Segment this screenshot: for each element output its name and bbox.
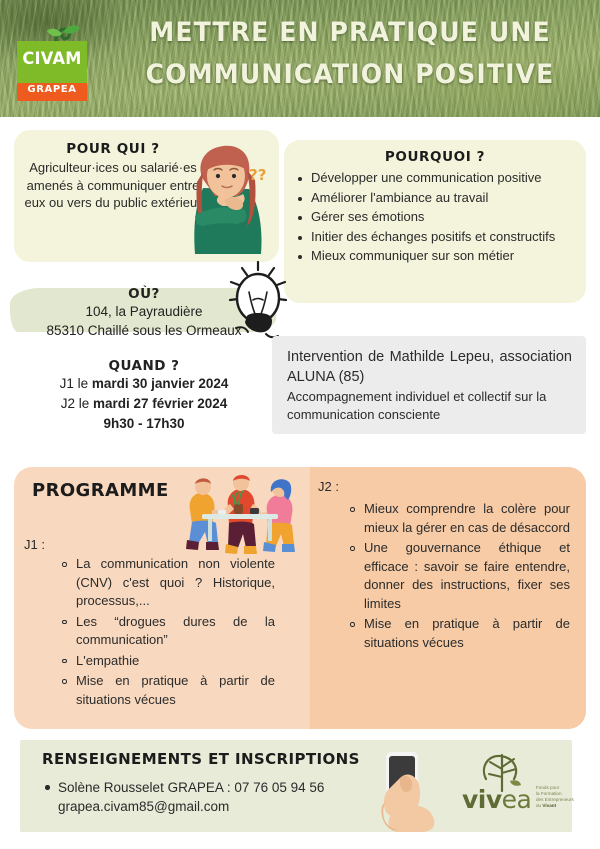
programme-j1-list: La communication non violente (CNV) c'es… [60, 555, 275, 711]
list-item: Solène Rousselet GRAPEA : 07 76 05 94 56… [42, 778, 372, 816]
page-title-line1: METTRE EN PRATIQUE UNE [127, 12, 573, 54]
list-item: Initier des échanges positifs et constru… [296, 228, 584, 247]
list-item: L'empathie [60, 652, 275, 671]
programme-j2-list: Mieux comprendre la colère pour mieux la… [348, 500, 570, 654]
logo-grapea-text: GRAPEA [17, 84, 87, 95]
intervention-card: Intervention de Mathilde Lepeu, associat… [272, 336, 586, 434]
vivea-logo: vivea Fonds pour la Formation des Entrep… [462, 757, 580, 819]
logo-civam-text: CIVAM [19, 49, 86, 69]
quand-day2-prefix: J2 le [61, 396, 93, 411]
pourquoi-title: POURQUOI ? [284, 149, 586, 165]
quand-day1-date: mardi 30 janvier 2024 [92, 376, 229, 391]
lightbulb-icon [222, 258, 298, 344]
list-item: Les “drogues dures de la communication” [60, 613, 275, 650]
list-item: Améliorer l'ambiance au travail [296, 189, 584, 208]
programme-j1-label: J1 : [24, 537, 45, 552]
list-item: La communication non violente (CNV) c'es… [60, 555, 275, 611]
pourquoi-list: Développer une communication positive Am… [296, 169, 584, 267]
footer-title: RENSEIGNEMENTS ET INSCRIPTIONS [42, 750, 360, 768]
vivea-tagline-l4-bold: Vivant [542, 803, 556, 808]
intervention-main-text: Intervention de Mathilde Lepeu, associat… [287, 347, 572, 387]
list-item: Mieux communiquer sur son métier [296, 247, 584, 266]
pour-qui-title: POUR QUI ? [28, 141, 198, 157]
quand-day1: J1 le mardi 30 janvier 2024 [8, 374, 280, 394]
quand-day2: J2 le mardi 27 février 2024 [8, 394, 280, 414]
vivea-wordmark: vivea [462, 787, 531, 812]
three-people-table-illustration [172, 470, 300, 566]
vivea-tagline-l4: du Vivant [536, 803, 582, 809]
contact-name-phone: Solène Rousselet GRAPEA : 07 76 05 94 56 [58, 780, 324, 795]
pour-qui-body: Agriculteur·ices ou salarié·es amenés à … [22, 159, 204, 212]
question-marks: ?? [249, 166, 266, 184]
vivea-word-bold: viv [462, 785, 502, 814]
list-item: Mise en pratique à partir de situations … [348, 615, 570, 652]
page-title-line2: COMMUNICATION POSITIVE [127, 54, 573, 96]
list-item: Développer une communication positive [296, 169, 584, 188]
hand-holding-phone-illustration [370, 748, 462, 832]
footer-contact-list: Solène Rousselet GRAPEA : 07 76 05 94 56… [42, 778, 372, 816]
quand-day1-prefix: J1 le [60, 376, 92, 391]
poster-root: METTRE EN PRATIQUE UNE COMMUNICATION POS… [0, 0, 600, 849]
quand-hours: 9h30 - 17h30 [8, 414, 280, 434]
vivea-word-light: ea [502, 785, 532, 814]
list-item: Une gouvernance éthique et efficace : sa… [348, 539, 570, 613]
quand-label: QUAND ? [8, 358, 280, 374]
pourquoi-card: POURQUOI ? Développer une communication … [284, 140, 586, 303]
quand-block: QUAND ? J1 le mardi 30 janvier 2024 J2 l… [8, 358, 280, 434]
page-title: METTRE EN PRATIQUE UNE COMMUNICATION POS… [127, 12, 573, 96]
intervention-sub-text: Accompagnement individuel et collectif s… [287, 388, 577, 423]
list-item: Mise en pratique à partir de situations … [60, 672, 275, 709]
contact-email[interactable]: grapea.civam85@gmail.com [58, 799, 229, 814]
thinking-woman-illustration: ?? [185, 142, 271, 258]
programme-j2-label: J2 : [318, 479, 339, 494]
programme-heading: PROGRAMME [32, 480, 169, 501]
list-item: Mieux comprendre la colère pour mieux la… [348, 500, 570, 537]
vivea-tagline: Fonds pour la Formation des Entrepreneur… [536, 785, 582, 809]
civam-grapea-logo: CIVAM GRAPEA [17, 23, 87, 101]
list-item: Gérer ses émotions [296, 208, 584, 227]
quand-day2-date: mardi 27 février 2024 [93, 396, 227, 411]
